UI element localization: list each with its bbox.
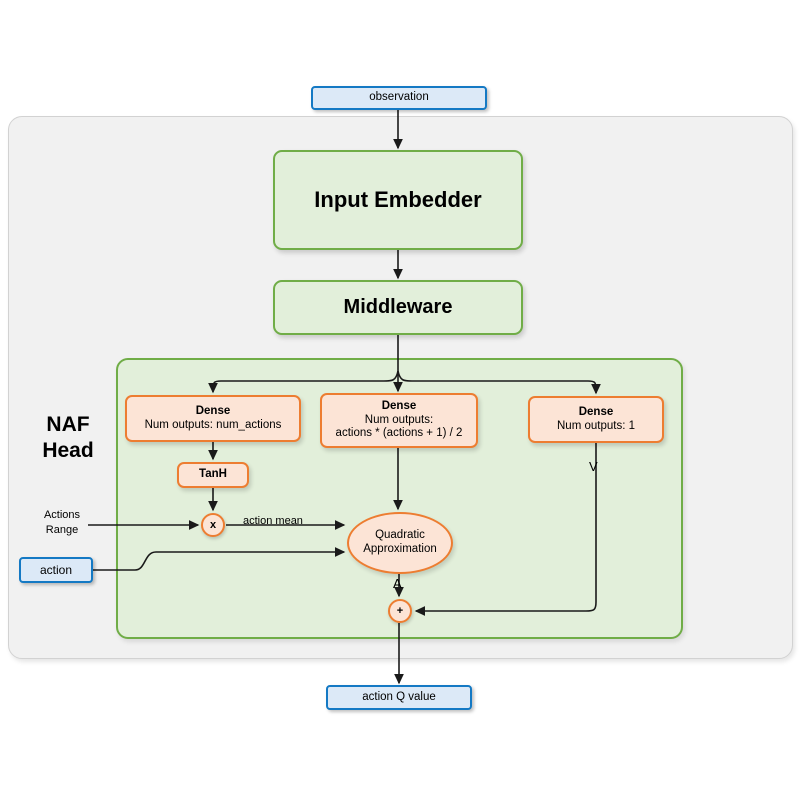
observation-node[interactable]: observation	[311, 86, 487, 110]
dense-v-outputs: Num outputs: 1	[557, 420, 635, 434]
action-q-value-node[interactable]: action Q value	[326, 685, 472, 710]
actions-range-label-line1: Actions	[26, 508, 98, 523]
input-embedder-node[interactable]: Input Embedder	[273, 150, 523, 250]
dense-l-node[interactable]: Dense Num outputs: actions * (actions + …	[320, 393, 478, 448]
observation-label: observation	[369, 91, 428, 105]
naf-head-title-line1: NAF	[26, 412, 110, 438]
multiply-operator-node[interactable]: x	[201, 513, 225, 537]
action-q-value-label: action Q value	[362, 691, 436, 705]
a-edge-label: A	[393, 576, 402, 591]
dense-mu-node[interactable]: Dense Num outputs: num_actions	[125, 395, 301, 442]
actions-range-label-line2: Range	[26, 523, 98, 538]
dense-l-outputs-formula: actions * (actions + 1) / 2	[336, 427, 463, 441]
tanh-node[interactable]: TanH	[177, 462, 249, 488]
quadratic-label-line1: Quadratic	[375, 529, 425, 543]
middleware-node[interactable]: Middleware	[273, 280, 523, 335]
diagram-canvas: observation Input Embedder Middleware NA…	[0, 0, 800, 800]
naf-head-title: NAF Head	[26, 412, 110, 465]
dense-l-outputs-label: Num outputs:	[365, 414, 433, 428]
dense-v-node[interactable]: Dense Num outputs: 1	[528, 396, 664, 443]
dense-l-title: Dense	[382, 400, 417, 414]
middleware-label: Middleware	[344, 296, 453, 320]
multiply-operator-label: x	[210, 519, 216, 532]
naf-head-title-line2: Head	[26, 438, 110, 464]
input-embedder-label: Input Embedder	[314, 187, 481, 213]
add-operator-label: +	[397, 605, 403, 618]
quadratic-approximation-node[interactable]: Quadratic Approximation	[347, 512, 453, 574]
add-operator-node[interactable]: +	[388, 599, 412, 623]
quadratic-label-line2: Approximation	[363, 543, 437, 557]
dense-v-title: Dense	[579, 406, 614, 420]
action-mean-label: action mean	[243, 515, 303, 527]
action-input-node[interactable]: action	[19, 557, 93, 583]
dense-mu-outputs: Num outputs: num_actions	[145, 419, 282, 433]
dense-mu-title: Dense	[196, 405, 231, 419]
actions-range-label: Actions Range	[26, 508, 98, 538]
tanh-label: TanH	[199, 468, 227, 482]
v-edge-label: V	[589, 459, 598, 474]
action-input-label: action	[40, 563, 72, 577]
